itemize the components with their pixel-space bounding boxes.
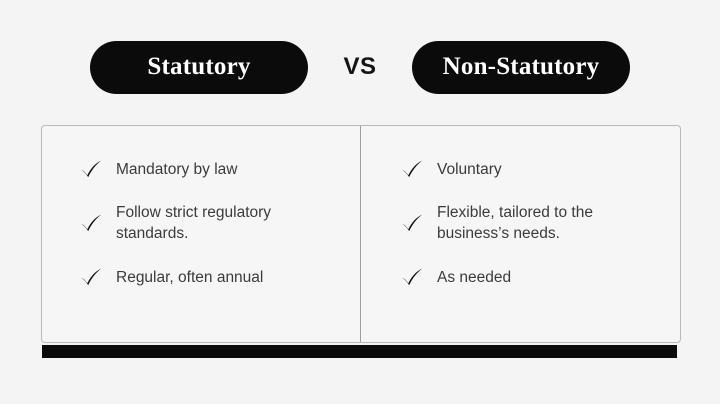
comparison-card: Mandatory by law Follow strict regulator… [41,125,681,343]
comparison-graphic: Statutory VS Non-Statutory Mandatory by … [0,0,720,404]
header-row: Statutory VS Non-Statutory [0,38,720,96]
column-non-statutory: Voluntary Flexible, tailored to the busi… [361,126,680,342]
vs-label: VS [308,53,412,81]
pill-statutory-label: Statutory [147,53,250,81]
list-item: Flexible, tailored to the business’s nee… [399,202,662,244]
check-icon [78,156,104,182]
check-icon [78,264,104,290]
list-item: Mandatory by law [78,148,342,190]
list-item: Regular, often annual [78,256,342,298]
list-item: As needed [399,256,662,298]
pill-non-statutory: Non-Statutory [412,41,630,94]
column-statutory: Mandatory by law Follow strict regulator… [42,126,361,342]
pill-statutory: Statutory [90,41,308,94]
list-item-text: Mandatory by law [116,159,237,180]
list-item: Voluntary [399,148,662,190]
list-item-text: Follow strict regulatory standards. [116,202,342,244]
check-icon [399,264,425,290]
card-base-bar [42,345,677,358]
list-item-text: As needed [437,267,511,288]
list-item-text: Voluntary [437,159,502,180]
list-item: Follow strict regulatory standards. [78,202,342,244]
check-icon [78,210,104,236]
list-item-text: Flexible, tailored to the business’s nee… [437,202,662,244]
list-item-text: Regular, often annual [116,267,263,288]
pill-non-statutory-label: Non-Statutory [443,53,600,81]
check-icon [399,156,425,182]
check-icon [399,210,425,236]
